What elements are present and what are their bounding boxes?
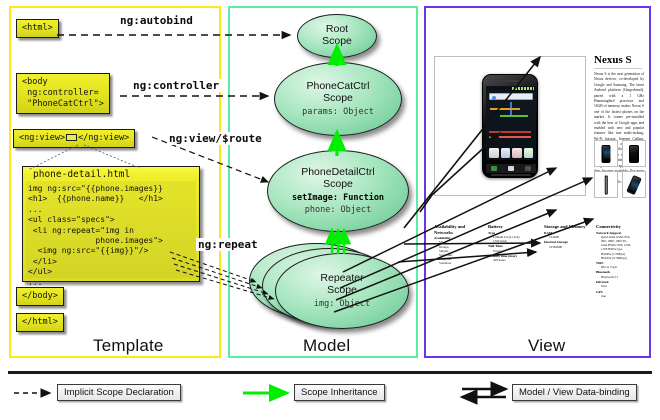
specs-value: 16384MB [549, 245, 594, 249]
specs-value: 428 hours [493, 258, 540, 262]
specs-header: Availability and Networks [434, 224, 484, 235]
ngview-close-tag: </ng:view> [78, 133, 129, 143]
specs-value: 1500 mAh [493, 239, 540, 243]
column-label-view: View [528, 336, 565, 356]
phonedetailctrl-prop-setimage: setImage: Function [292, 193, 384, 203]
phone-statusbar [512, 87, 534, 90]
specs-value: Vodafone [439, 261, 484, 265]
specs-column: Storage and Memory RAM 512MB Internal St… [544, 224, 594, 249]
specs-value: HSUPA (5.76Mbps) [601, 256, 642, 260]
thumbnail-item[interactable] [622, 140, 646, 167]
phone-name-heading: Nexus S [594, 54, 632, 66]
phone-wallpaper-line-2 [500, 115, 528, 117]
legend-implicit-scope: Implicit Scope Declaration [57, 384, 181, 401]
specs-value: 802.11 b/g/n [601, 265, 642, 269]
phone-speaker [502, 80, 518, 82]
phone-description: Nexus S is the next generation of Nexus … [594, 72, 644, 185]
phone-wallpaper-line-4 [489, 136, 531, 138]
phonedetailctrl-line2: Scope [323, 179, 353, 191]
phonecatctrl-scope: PhoneCatCtrl Scope params: Object [274, 62, 402, 136]
phone-app-icons [489, 146, 533, 158]
note-code: img ng:src="{{phone.images}} <h1> {{phon… [28, 184, 195, 288]
heading-divider [594, 68, 642, 69]
specs-column: Connectivity Network Support Quad-band G… [596, 224, 642, 298]
ngview-open-tag: <ng:view> [19, 133, 65, 143]
code-html-close: </html> [16, 313, 64, 332]
specs-value: Bluetooth 2.1 [601, 275, 642, 279]
specs-header: Connectivity [596, 224, 642, 230]
specs-header: Storage and Memory [544, 224, 594, 230]
phonecatctrl-line2: Scope [323, 93, 353, 105]
code-body-open: <body ng:controller= "PhoneCatCtrl"> [16, 73, 110, 114]
label-ng-controller: ng:controller [131, 79, 221, 92]
specs-value: false [601, 284, 642, 288]
specs-value: 512MB [549, 235, 594, 239]
note-title: phone-detail.html [33, 169, 130, 180]
diagram-canvas: <html> <body ng:controller= "PhoneCatCtr… [0, 0, 660, 420]
phone-home-bar [491, 174, 531, 176]
specs-value: 6 hours [493, 249, 540, 253]
label-ng-repeat: ng:repeat [196, 238, 260, 251]
code-body-close: </body> [16, 287, 64, 306]
repeater-scope: Repeater Scope img: Object [275, 253, 409, 329]
phone-search-widget [489, 93, 533, 100]
label-ng-view-route: ng:view/$route [167, 132, 264, 145]
legend-data-binding: Model / View Data-binding [512, 384, 637, 401]
legend-glyph-databinding [462, 389, 506, 397]
thumbnail-item[interactable] [594, 171, 618, 198]
repeater-scope-line2: Scope [327, 285, 357, 297]
phone-device-image [482, 74, 538, 178]
phone-specs-table: Availability and Networks Availability M… [434, 224, 642, 286]
column-label-template: Template [93, 336, 164, 356]
phone-screen [486, 86, 536, 160]
phone-detail-note: phone-detail.html img ng:src="{{phone.im… [22, 166, 200, 282]
legend-scope-inheritance: Scope Inheritance [294, 384, 385, 401]
phonecatctrl-prop-params: params: Object [302, 107, 374, 117]
phonedetailctrl-prop-phone: phone: Object [305, 205, 372, 215]
legend-divider [8, 371, 652, 374]
thumbnail-item[interactable] [622, 171, 646, 198]
label-ng-autobind: ng:autobind [118, 14, 195, 27]
root-scope: Root Scope [297, 14, 377, 58]
phone-wallpaper-line-3 [489, 131, 531, 133]
ngview-slot-icon [66, 134, 77, 141]
phonedetailctrl-scope: PhoneDetailCtrl Scope setImage: Function… [267, 150, 409, 232]
column-label-model: Model [303, 336, 350, 356]
view-rendered-page: Nexus S Nexus S is the next generation o… [434, 16, 642, 316]
specs-column: Battery Type Lithium Ion (Li-Ion) 1500 m… [488, 224, 540, 262]
phone-main-image-frame [434, 56, 586, 196]
repeater-prop-img: img: Object [314, 299, 370, 309]
code-ngview: <ng:view></ng:view> [13, 129, 135, 148]
thumbnail-item[interactable] [594, 140, 618, 167]
specs-value: true [601, 294, 642, 298]
root-scope-line2: Scope [322, 36, 352, 48]
code-html-open: <html> [16, 19, 59, 38]
specs-column: Availability and Networks Availability M… [434, 224, 484, 265]
phone-navbar [486, 164, 536, 173]
phone-wallpaper-line-1 [490, 108, 520, 110]
specs-header: Battery [488, 224, 540, 230]
